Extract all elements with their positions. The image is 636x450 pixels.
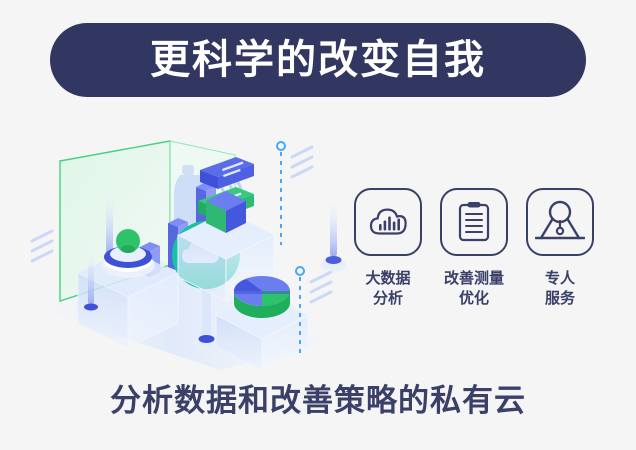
feature-label-line-1: 改善测量 <box>444 268 504 288</box>
dotted-connector-top <box>277 142 285 245</box>
hero-illustration <box>30 125 360 370</box>
hatch-marks-top <box>292 147 312 177</box>
cloud-bar-chart-icon <box>354 188 422 256</box>
feature-label-line-2: 服务 <box>545 288 575 308</box>
gauge-pin-right <box>321 195 347 272</box>
feature-item-measure-optimize[interactable]: 改善测量 优化 <box>438 188 510 309</box>
clipboard-icon <box>440 188 508 256</box>
feature-label-line-2: 优化 <box>444 288 504 308</box>
hatch-marks-left <box>32 231 52 261</box>
feature-list: 大数据 分析 改善测量 优化 <box>352 188 596 333</box>
title-banner: 更科学的改变自我 <box>50 23 586 97</box>
feature-label-big-data-analysis: 大数据 分析 <box>365 268 410 309</box>
feature-label-dedicated-service: 专人 服务 <box>545 268 575 309</box>
feature-label-line-1: 专人 <box>545 268 575 288</box>
support-agent-icon <box>526 188 594 256</box>
feature-label-measure-optimize: 改善测量 优化 <box>444 268 504 309</box>
feature-label-line-2: 分析 <box>365 288 410 308</box>
poster-root: 更科学的改变自我 <box>0 0 636 450</box>
page-title: 更科学的改变自我 <box>150 40 486 80</box>
feature-item-dedicated-service[interactable]: 专人 服务 <box>524 188 596 309</box>
tagline: 分析数据和改善策略的私有云 <box>0 383 636 420</box>
feature-label-line-1: 大数据 <box>365 268 410 288</box>
feature-item-big-data-analysis[interactable]: 大数据 分析 <box>352 188 424 309</box>
hatch-marks-bottom <box>311 272 331 302</box>
pie-chart-3d <box>234 276 290 318</box>
